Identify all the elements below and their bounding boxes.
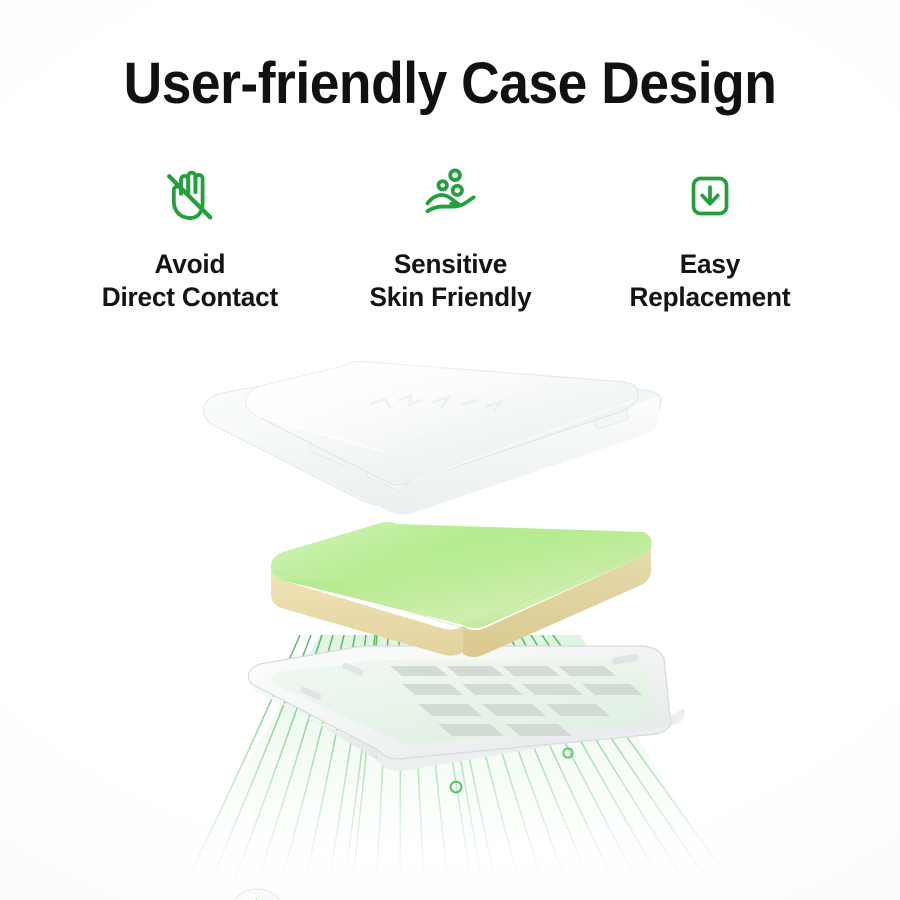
feature-label-line1: Easy: [680, 249, 740, 279]
feature-item-avoid-direct-contact: Avoid Direct Contact: [60, 160, 320, 314]
feature-item-easy-replacement: Easy Replacement: [580, 160, 840, 314]
box-down-arrow-icon: [677, 160, 743, 232]
feature-label-line1: Avoid: [155, 249, 226, 279]
mint-leaf-bubble-left: [226, 887, 288, 900]
feature-label-line1: Sensitive: [393, 249, 506, 279]
feature-row: Avoid Direct Contact Sensitive: [60, 160, 840, 314]
scent-pad-layer: [265, 520, 655, 660]
feature-label: Sensitive Skin Friendly: [369, 248, 531, 314]
feature-label: Avoid Direct Contact: [102, 248, 278, 314]
feature-label-line2: Skin Friendly: [369, 281, 531, 314]
feature-label: Easy Replacement: [630, 248, 791, 314]
page-title: User-friendly Case Design: [36, 52, 864, 116]
product-exploded-view: [0, 355, 900, 900]
infographic-page: User-friendly Case Design Avoid Direct: [0, 0, 900, 900]
no-touch-hand-icon: [154, 160, 226, 232]
clear-lid-layer: [195, 360, 685, 535]
feature-label-line2: Replacement: [630, 281, 791, 314]
hand-with-bubbles-icon: [414, 160, 486, 232]
feature-item-sensitive-skin-friendly: Sensitive Skin Friendly: [320, 160, 580, 314]
feature-label-line2: Direct Contact: [102, 281, 278, 314]
